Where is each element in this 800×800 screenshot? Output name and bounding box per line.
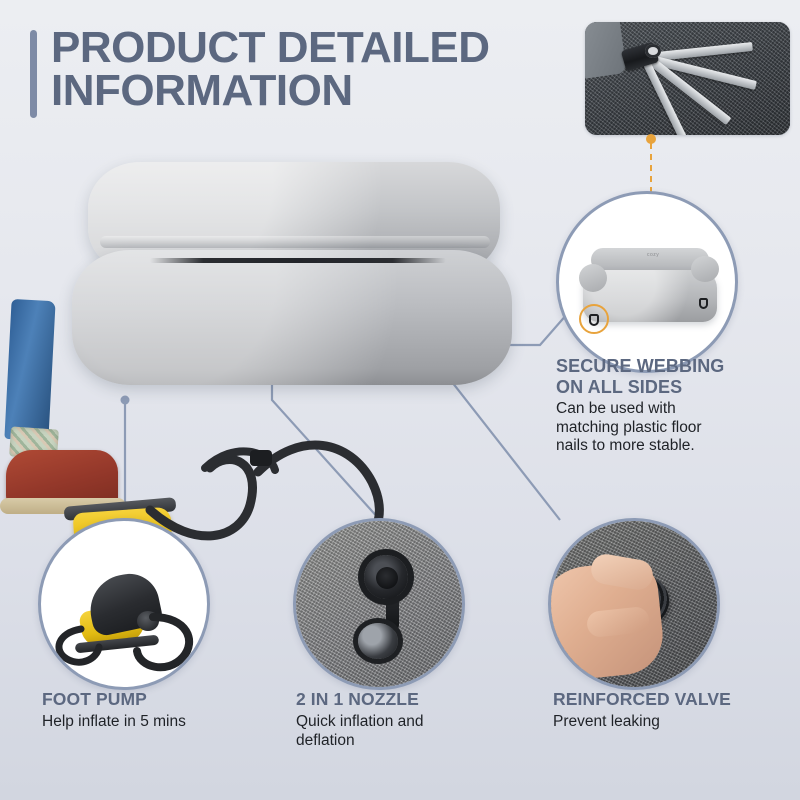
fabric-texture [296,521,462,687]
caption-secure-webbing: SECURE WEBBING ON ALL SIDES Can be used … [556,356,796,456]
infographic-page: PRODUCT DETAILED INFORMATION [0,0,800,800]
caption-two-in-one-nozzle: 2 IN 1 NOZZLE Quick inflation and deflat… [296,690,526,750]
floor-nails-inset-image [585,22,790,135]
feature-image-reinforced-valve [548,518,720,690]
pump-hose-icon [41,521,210,690]
title-accent-bar [30,30,37,118]
page-title-block: PRODUCT DETAILED INFORMATION [30,26,490,118]
sofa-arm-left [579,264,607,292]
nozzle-port-large-inner [376,567,398,589]
feature-image-foot-pump [38,518,210,690]
caption-description: Prevent leaking [553,713,793,732]
caption-reinforced-valve: REINFORCED VALVE Prevent leaking [553,690,793,732]
nozzle-port-small [358,623,398,659]
caption-description: Help inflate in 5 mins [42,713,272,732]
callout-dot-orange [646,134,656,144]
page-title: PRODUCT DETAILED INFORMATION [51,26,490,112]
caption-foot-pump: FOOT PUMP Help inflate in 5 mins [42,690,272,732]
caption-heading: REINFORCED VALVE [553,690,793,710]
feature-image-secure-webbing: cozy [556,191,738,373]
sofa-logo: cozy [647,252,659,258]
caption-heading: SECURE WEBBING ON ALL SIDES [556,356,796,397]
caption-heading: FOOT PUMP [42,690,272,710]
sofa-arm-right [691,256,719,282]
caption-heading: 2 IN 1 NOZZLE [296,690,526,710]
feature-image-two-in-one-nozzle [293,518,465,690]
sofa-webbing-loop [699,298,708,309]
sofa-seam [150,258,446,263]
hero-product-image [0,150,540,400]
sofa-corner [585,22,627,79]
sofa-fold-line [100,236,490,248]
caption-description: Quick inflation and deflation [296,713,526,750]
caption-description: Can be used with matching plastic floor … [556,400,796,456]
strap-eyelet [645,44,661,58]
webbing-loop-highlight-ring [579,304,609,334]
